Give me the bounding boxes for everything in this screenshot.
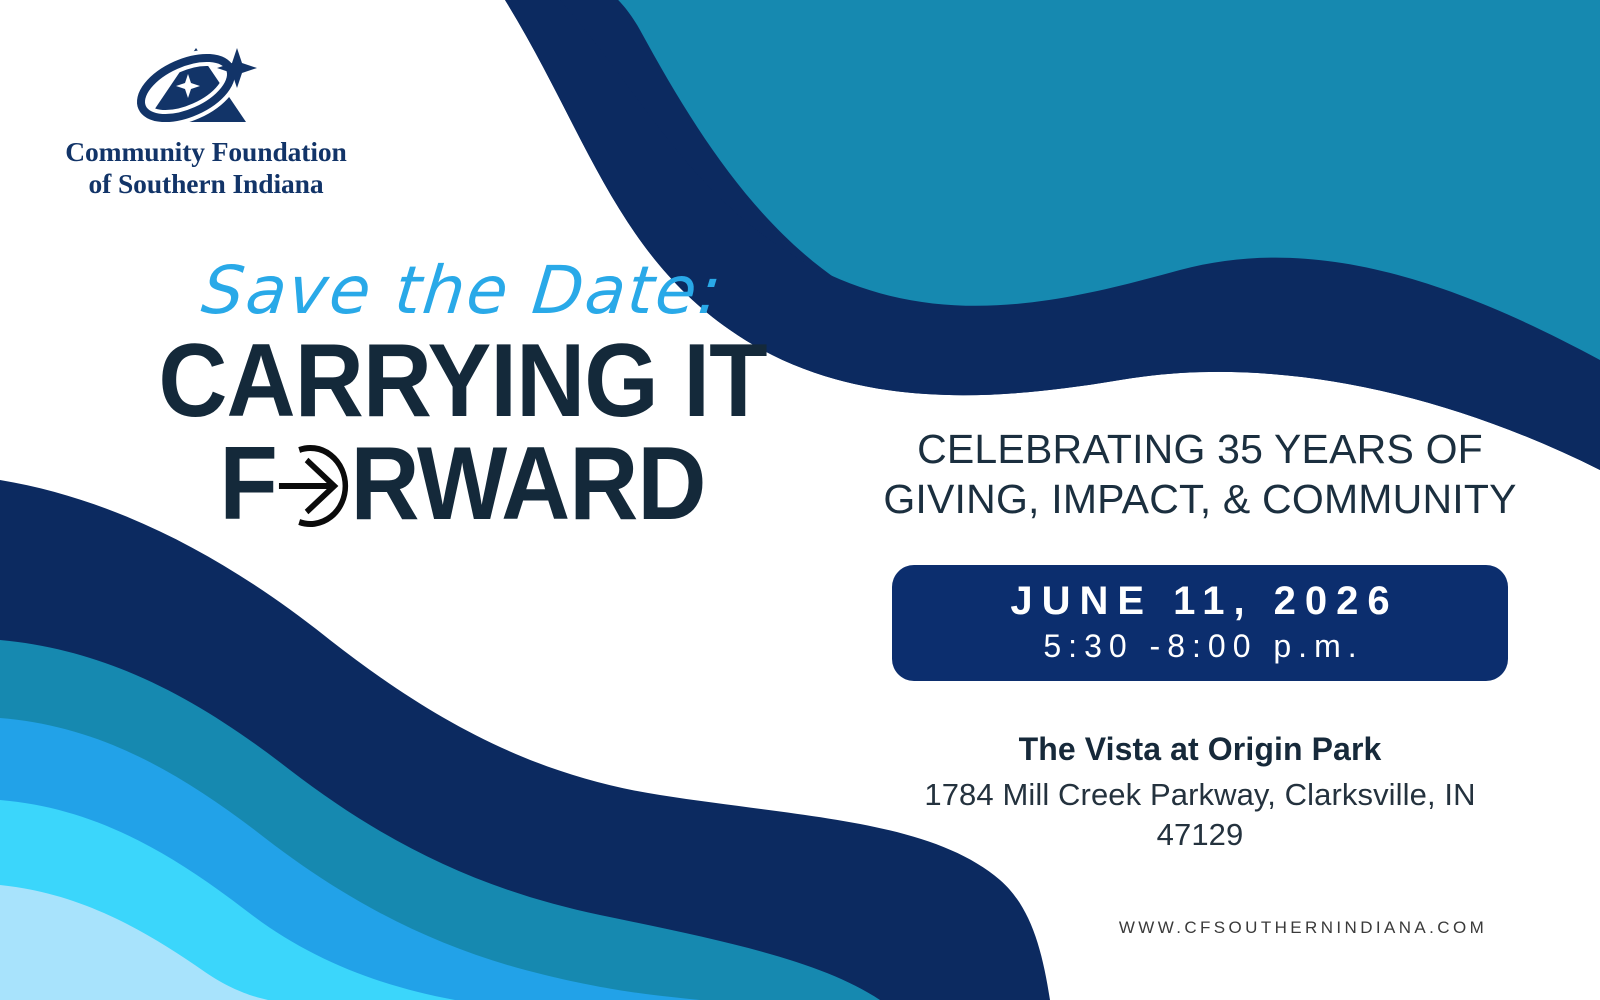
date-time-badge: JUNE 11, 2026 5:30 -8:00 p.m. bbox=[892, 565, 1508, 681]
wave-bottom-pale bbox=[0, 885, 268, 1000]
wave-bottom-blue bbox=[0, 718, 700, 1000]
event-time: 5:30 -8:00 p.m. bbox=[1036, 626, 1363, 666]
headline-line-2: F RWARD bbox=[37, 433, 888, 536]
website-url[interactable]: WWW.CFSOUTHERNINDIANA.COM bbox=[1100, 918, 1503, 938]
wave-top-cyan bbox=[620, 0, 1600, 260]
event-details: CELEBRATING 35 YEARS OF GIVING, IMPACT, … bbox=[880, 424, 1520, 855]
headline-block: Save the Date: CARRYING IT F RWARD bbox=[0, 258, 925, 536]
cfsi-mountain-orbit-logo bbox=[124, 44, 274, 130]
wave-bottom-cyan bbox=[0, 800, 455, 1000]
organization-logo: Community Foundation of Southern Indiana bbox=[56, 44, 356, 201]
event-date: JUNE 11, 2026 bbox=[1001, 580, 1398, 622]
headline-line-2-prefix: F bbox=[219, 433, 277, 536]
tagline-line-2: GIVING, IMPACT, & COMMUNITY bbox=[880, 474, 1520, 524]
headline-line-1: CARRYING IT bbox=[37, 330, 888, 433]
wave-top-pale bbox=[700, 0, 1600, 181]
venue-block: The Vista at Origin Park 1784 Mill Creek… bbox=[880, 729, 1520, 856]
tagline-line-1: CELEBRATING 35 YEARS OF bbox=[880, 424, 1520, 474]
logo-line-1: Community Foundation bbox=[65, 136, 346, 167]
event-tagline: CELEBRATING 35 YEARS OF GIVING, IMPACT, … bbox=[880, 424, 1520, 525]
venue-address: 1784 Mill Creek Parkway, Clarksville, IN… bbox=[880, 775, 1520, 856]
save-the-date-script: Save the Date: bbox=[0, 258, 928, 324]
circle-arrow-right-icon bbox=[275, 443, 354, 529]
headline-line-2-suffix: RWARD bbox=[351, 433, 706, 536]
save-the-date-poster: Community Foundation of Southern Indiana… bbox=[0, 0, 1600, 1000]
logo-line-2: of Southern Indiana bbox=[56, 168, 356, 200]
wave-bottom-teal bbox=[0, 640, 880, 1000]
logo-wordmark: Community Foundation of Southern Indiana bbox=[56, 136, 356, 201]
venue-name: The Vista at Origin Park bbox=[880, 729, 1520, 769]
